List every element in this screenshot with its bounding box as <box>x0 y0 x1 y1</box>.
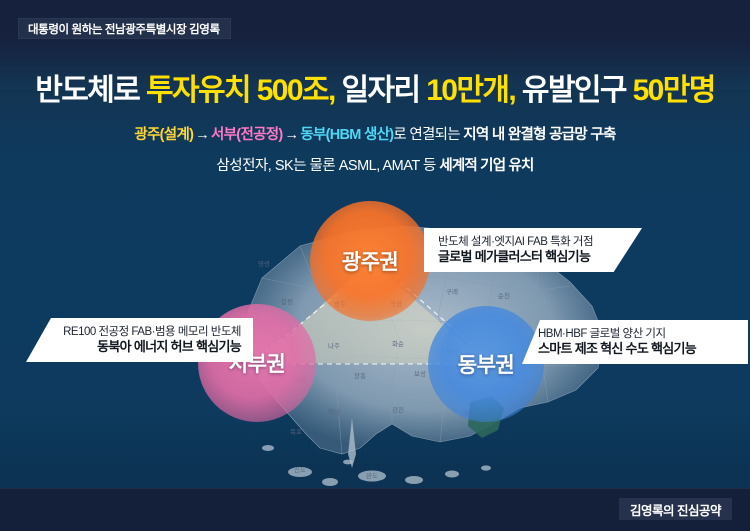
callout-seobu-line2: 동북아 에너지 허브 핵심기능 <box>97 339 241 355</box>
headline-part-4: 10만개, <box>426 74 515 107</box>
region-bubble-gwangju[interactable]: 광주권 <box>310 201 430 321</box>
subtitle-line-1: 광주(설계)→서부(전공정)→동부(HBM 생산)로 연결되는 지역 내 완결형… <box>0 128 750 143</box>
svg-text:보성: 보성 <box>414 369 426 378</box>
headline-part-3: 일자리 <box>335 74 426 107</box>
callout-seobu-line1: RE100 전공정 FAB·범용 메모리 반도체 <box>63 325 241 339</box>
svg-text:순천: 순천 <box>498 291 510 300</box>
callout-gwangju: 반도체 설계·엣지AI FAB 특화 거점 글로벌 메가클러스터 핵심기능 <box>424 228 642 272</box>
subtitle-dongbu-term: 동부(HBM 생산) <box>300 127 393 143</box>
footer-badge: 김영록의 진심공약 <box>619 498 732 520</box>
svg-text:나주: 나주 <box>328 341 340 350</box>
headline: 반도체로 투자유치 500조, 일자리 10만개, 유발인구 50만명 <box>0 76 750 106</box>
subtitle-line-2: 삼성전자, SK는 물론 ASML, AMAT 등 세계적 기업 유치 <box>0 159 750 174</box>
svg-text:완도: 완도 <box>366 472 378 480</box>
header-badge: 대통령이 원하는 전남광주특별시장 김영록 <box>18 18 231 39</box>
region-bubble-gwangju-label: 광주권 <box>342 246 398 276</box>
header-badge-label: 대통령이 원하는 전남광주특별시장 김영록 <box>28 21 220 37</box>
callout-gwangju-line2: 글로벌 메가클러스터 핵심기능 <box>438 249 590 265</box>
svg-text:강진: 강진 <box>392 405 404 414</box>
region-bubble-dongbu[interactable]: 동부권 <box>428 306 544 422</box>
svg-text:진도: 진도 <box>294 465 306 474</box>
svg-text:영광: 영광 <box>258 259 270 268</box>
svg-text:목포: 목포 <box>290 428 302 436</box>
region-bubble-dongbu-label: 동부권 <box>458 349 514 379</box>
svg-text:장흥: 장흥 <box>354 371 366 380</box>
headline-part-6: 50만명 <box>633 74 715 107</box>
callout-dongbu: HBM·HBF 글로벌 양산 기지 스마트 제조 혁신 수도 핵심기능 <box>522 320 748 364</box>
subtitle-line1-tail-plain: 로 연결되는 <box>393 127 463 143</box>
arrow-right-icon-1: → <box>193 127 211 143</box>
subtitle-gwangju-term: 광주(설계) <box>134 127 193 143</box>
subtitle-seobu-term: 서부(전공정) <box>211 127 282 143</box>
headline-part-2: 투자유치 500조, <box>146 74 335 107</box>
svg-text:화순: 화순 <box>392 340 404 348</box>
subtitle-line2-bold: 세계적 기업 유치 <box>439 158 533 174</box>
headline-part-5: 유발인구 <box>515 74 632 107</box>
svg-text:함평: 함평 <box>281 297 293 306</box>
arrow-right-icon-2: → <box>283 127 301 143</box>
subtitle-line1-tail-strong: 지역 내 완결형 공급망 구축 <box>463 127 615 143</box>
headline-part-1: 반도체로 <box>35 74 146 107</box>
svg-text:구례: 구례 <box>446 287 458 296</box>
svg-text:해남: 해남 <box>328 407 340 416</box>
callout-dongbu-line1: HBM·HBF 글로벌 양산 기지 <box>538 327 666 341</box>
subtitle-line2-plain: 삼성전자, SK는 물론 ASML, AMAT 등 <box>216 158 439 174</box>
callout-gwangju-line1: 반도체 설계·엣지AI FAB 특화 거점 <box>438 235 593 249</box>
footer-badge-label: 김영록의 진심공약 <box>630 500 721 519</box>
callout-seobu: RE100 전공정 FAB·범용 메모리 반도체 동북아 에너지 허브 핵심기능 <box>26 318 253 362</box>
campaign-infographic-poster: 대통령이 원하는 전남광주특별시장 김영록 반도체로 투자유치 500조, 일자… <box>0 0 750 531</box>
callout-dongbu-line2: 스마트 제조 혁신 수도 핵심기능 <box>538 341 696 357</box>
